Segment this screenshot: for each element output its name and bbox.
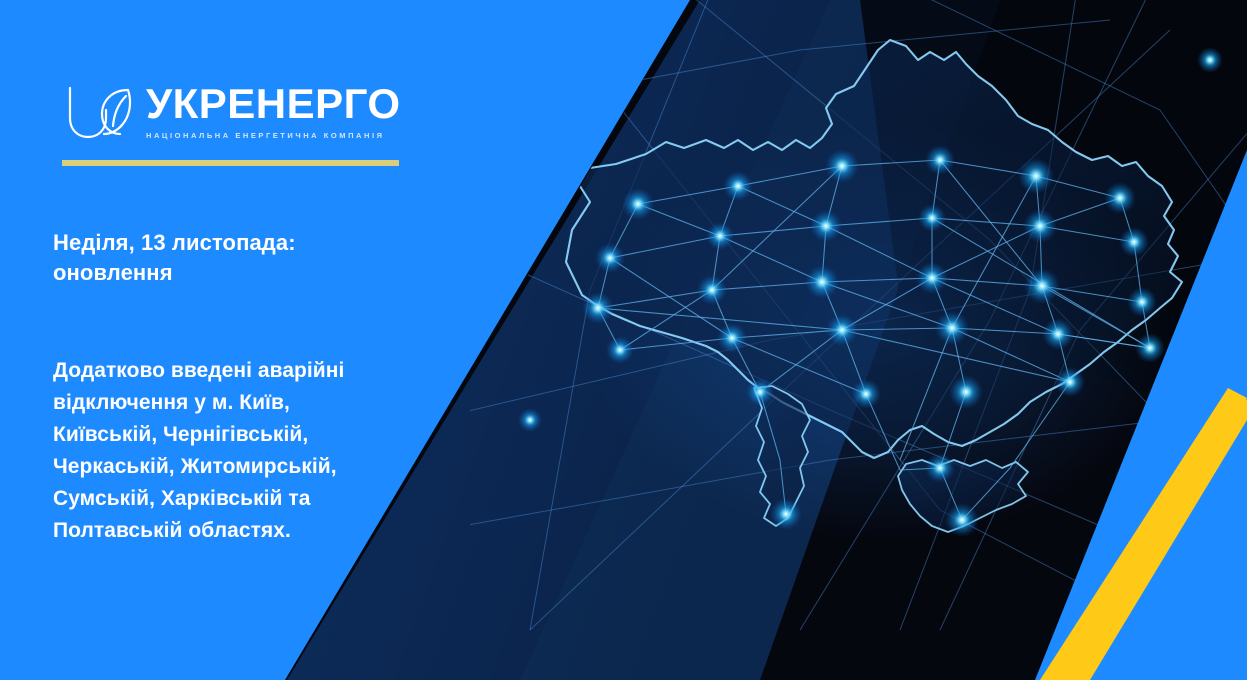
logo-underline [62, 160, 399, 166]
brand-name: УКРЕНЕРГО [146, 80, 401, 127]
brand-tagline: Національна енергетична компанія [146, 131, 385, 140]
ukrenergo-leaf-icon [62, 82, 140, 144]
ukrenergo-logo[interactable]: УКРЕНЕРГО Національна енергетична компан… [62, 82, 430, 144]
content-column: УКРЕНЕРГО Національна енергетична компан… [0, 0, 430, 680]
announcement-headline: Неділя, 13 листопада: оновлення [53, 228, 383, 287]
announcement-body: Додатково введені аварійні відключення у… [53, 355, 398, 546]
announcement-graphic: УКРЕНЕРГО Національна енергетична компан… [0, 0, 1247, 680]
